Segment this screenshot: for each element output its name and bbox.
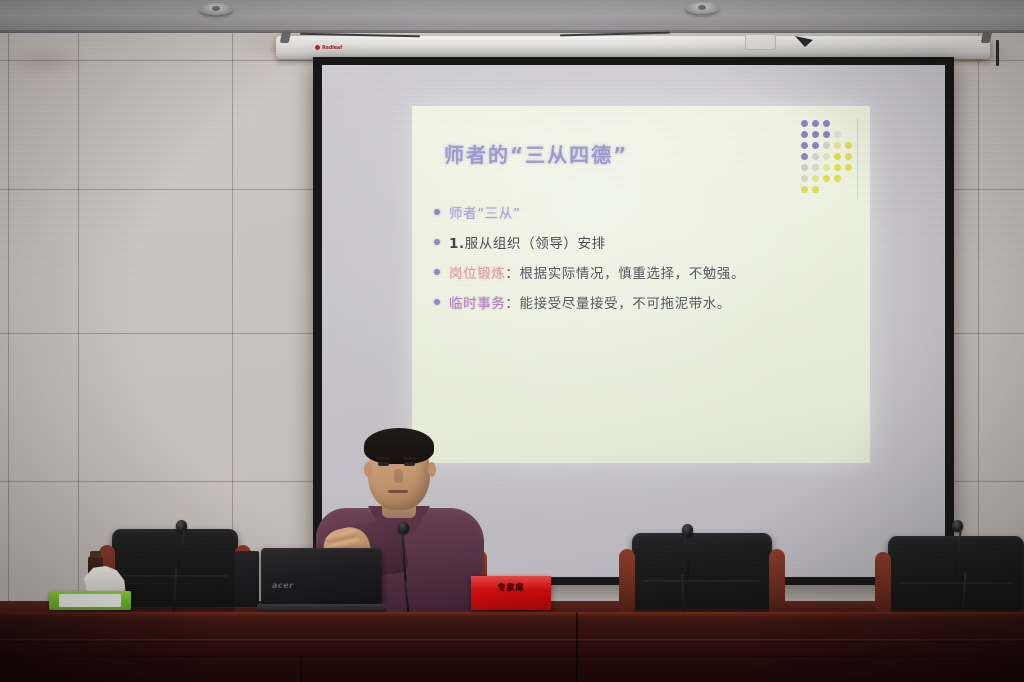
decoration-dot [834,142,841,149]
presenter-eyebrow [403,457,416,460]
decoration-dot [823,164,830,171]
decoration-dot [812,164,819,171]
photo-scene: Redleaf 师者的“三从四德” 师者“三从”1.服从组织（领导）安排岗位锻炼… [0,0,1024,682]
dot-matrix-decoration [801,120,854,195]
ceiling-junction-box [745,34,776,50]
laptop-brand-logo: acer [272,581,294,590]
bottle-cap [90,551,101,558]
decoration-dot [801,142,808,149]
bullet-dot-icon [434,209,440,215]
roller-brand-logo: Redleaf [315,43,361,52]
decoration-dot [834,175,841,182]
decoration-dot [812,120,819,127]
sprinkler-icon [685,2,719,14]
bullet-text: 岗位锻炼：根据实际情况，慎重选择，不勉强。 [449,262,745,282]
decoration-dot [834,153,841,160]
presenter-ear [364,462,372,477]
bullet-text: 师者“三从” [449,202,521,222]
chair-center [632,533,772,609]
red-nameplate: 专家席 [471,576,551,610]
presenter-eyebrow [377,457,390,460]
slide-divider [857,118,858,200]
bullet-dot-icon [434,239,440,245]
presenter-ear [428,462,436,477]
decoration-dot [845,142,852,149]
bullet-text: 1.服从组织（领导）安排 [449,232,606,252]
sprinkler-icon [199,3,233,15]
decoration-dot [845,153,852,160]
decoration-dot [845,120,852,127]
slide-bullet-2: 1.服从组织（领导）安排 [434,232,854,252]
screen-roller-housing: Redleaf [276,36,990,59]
slide-bullet-3: 岗位锻炼：根据实际情况，慎重选择，不勉强。 [434,262,854,282]
decoration-dot [845,164,852,171]
decoration-dot [834,186,841,193]
decoration-dot [801,153,808,160]
presenter-eye [378,462,389,466]
decoration-dot [801,120,808,127]
slide-title: 师者的“三从四德” [444,139,628,168]
decoration-dot [823,186,830,193]
decoration-dot [823,120,830,127]
nameplate-text: 专家席 [475,583,547,593]
slide-bullet-list: 师者“三从”1.服从组织（领导）安排岗位锻炼：根据实际情况，慎重选择，不勉强。临… [434,202,854,322]
decoration-dot [834,120,841,127]
ceiling [0,0,1024,34]
decoration-dot [845,175,852,182]
decoration-dot [801,175,808,182]
slide-bullet-4: 临时事务：能接受尽量接受，不可拖泥带水。 [434,292,854,312]
decoration-dot [812,186,819,193]
podium-front [0,612,1024,682]
laptop: acer [261,548,382,612]
bullet-text: 临时事务：能接受尽量接受，不可拖泥带水。 [449,292,731,312]
decoration-dot [801,164,808,171]
presenter-hair [364,428,434,464]
dark-object [235,551,259,607]
decoration-dot [823,142,830,149]
presenter-mouth [388,490,408,493]
decoration-dot [812,153,819,160]
decoration-dot [812,142,819,149]
slide-bullet-1: 师者“三从” [434,202,854,222]
presenter-eye [404,462,415,466]
presenter-nose [394,469,403,483]
bullet-dot-icon [434,299,440,305]
bullet-dot-icon [434,269,440,275]
decoration-dot [812,175,819,182]
decoration-dot [823,153,830,160]
presentation-slide: 师者的“三从四德” 师者“三从”1.服从组织（领导）安排岗位锻炼：根据实际情况，… [412,106,870,463]
decoration-dot [834,164,841,171]
decoration-dot [845,131,852,138]
decoration-dot [823,131,830,138]
decoration-dot [801,131,808,138]
decoration-dot [812,131,819,138]
green-box [49,591,131,610]
decoration-dot [823,175,830,182]
decoration-dot [845,186,852,193]
decoration-dot [834,131,841,138]
decoration-dot [801,186,808,193]
